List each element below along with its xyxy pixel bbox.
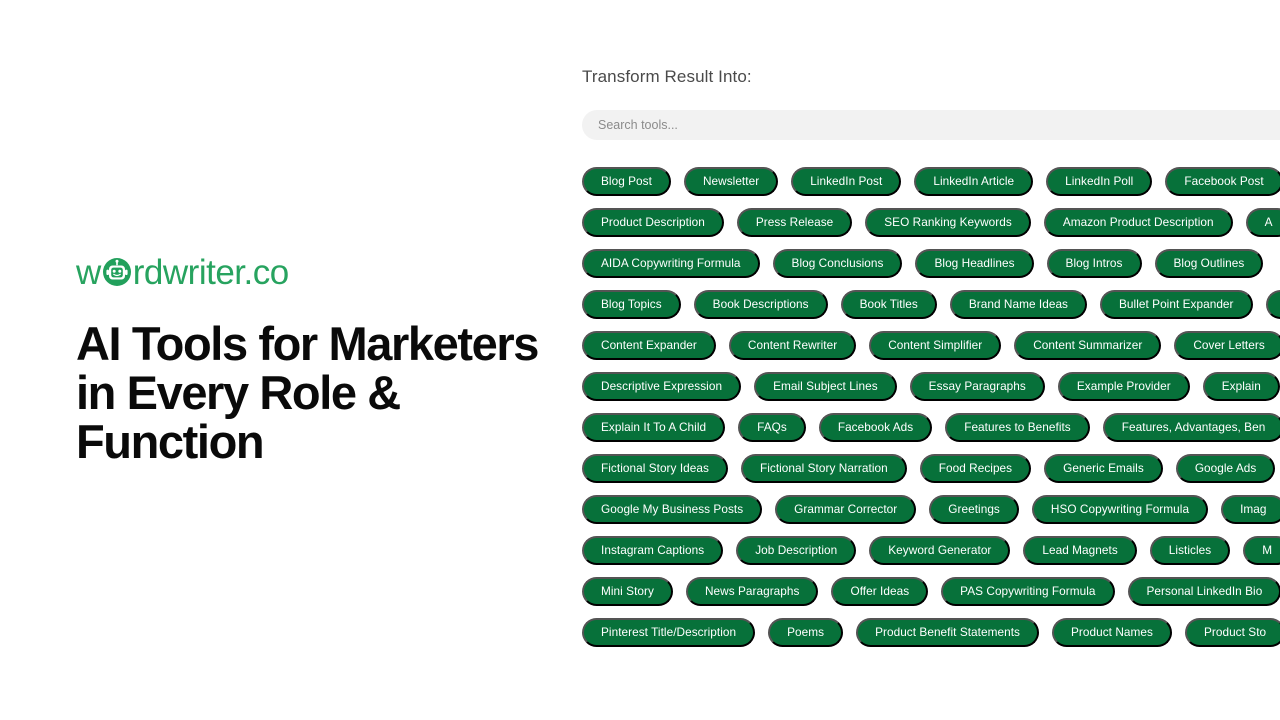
tool-tag[interactable]: Generic Emails [1044,454,1163,483]
tool-tag[interactable]: Features, Advantages, Ben [1103,413,1280,442]
tool-tag[interactable]: Content Expander [582,331,716,360]
tool-tag[interactable]: AIDA Copywriting Formula [582,249,760,278]
tool-tag[interactable]: Facebook Ads [819,413,932,442]
tool-tag[interactable]: Google Ads [1176,454,1276,483]
tool-tag[interactable]: Blog Post [582,167,671,196]
tool-tag[interactable]: Keyword Generator [869,536,1010,565]
tool-tag-row: Descriptive ExpressionEmail Subject Line… [582,372,1280,401]
tool-tag[interactable]: LinkedIn Poll [1046,167,1152,196]
tool-tag[interactable]: Lead Magnets [1023,536,1136,565]
tool-tag[interactable]: Instagram Captions [582,536,723,565]
tool-tag[interactable]: Mini Story [582,577,673,606]
tool-tag[interactable]: Listicles [1150,536,1230,565]
tool-tag[interactable]: PAS Copywriting Formula [941,577,1114,606]
tool-tag-row: Explain It To A ChildFAQsFacebook AdsFea… [582,413,1280,442]
tool-tag[interactable]: Product Benefit Statements [856,618,1039,647]
tool-tag-row: Instagram CaptionsJob DescriptionKeyword… [582,536,1280,565]
tool-tag[interactable]: Poems [768,618,843,647]
tool-tag[interactable]: Email Subject Lines [754,372,897,401]
tool-tag[interactable]: Google My Business Posts [582,495,762,524]
site-logo[interactable]: w rdwriter.co [76,250,546,294]
tool-tag-row: Fictional Story IdeasFictional Story Nar… [582,454,1280,483]
tool-tag[interactable]: Essay Paragraphs [910,372,1045,401]
transform-panel: Transform Result Into: Blog PostNewslett… [560,0,1280,720]
tool-tag-list: Blog PostNewsletterLinkedIn PostLinkedIn… [582,167,1280,647]
tool-tag[interactable]: Facebook Post [1165,167,1280,196]
tool-tag[interactable]: Content Simplifier [869,331,1001,360]
tool-tag[interactable]: Amazon Product Description [1044,208,1233,237]
tool-tag[interactable]: Content Summarizer [1014,331,1161,360]
tool-tag[interactable]: Pinterest Title/Description [582,618,755,647]
tool-tag[interactable]: LinkedIn Post [791,167,901,196]
tool-tag[interactable]: Fictional Story Narration [741,454,907,483]
tool-tag[interactable]: Blog Topics [582,290,681,319]
page-root: w rdwriter.co [0,0,1280,720]
tool-tag[interactable]: M [1243,536,1280,565]
tool-tag[interactable]: Fictional Story Ideas [582,454,728,483]
tool-tag[interactable]: Explain [1203,372,1280,401]
tool-tag[interactable]: Features to Benefits [945,413,1090,442]
hero-content: w rdwriter.co [76,250,546,467]
search-tools-container [582,110,1280,140]
tool-tag[interactable]: Greetings [929,495,1019,524]
tool-tag-row: Content ExpanderContent RewriterContent … [582,331,1280,360]
tool-tag-row: Blog TopicsBook DescriptionsBook TitlesB… [582,290,1280,319]
robot-face-icon [102,257,132,287]
tool-tag-row: Blog PostNewsletterLinkedIn PostLinkedIn… [582,167,1280,196]
tool-tag-row: Google My Business PostsGrammar Correcto… [582,495,1280,524]
tool-tag[interactable]: Content Rewriter [729,331,856,360]
tool-tag[interactable]: Product Names [1052,618,1172,647]
tool-tag[interactable]: Product Description [582,208,724,237]
tool-tag[interactable]: Product Sto [1185,618,1280,647]
tool-tag[interactable]: Food Recipes [920,454,1031,483]
tool-tag[interactable]: Grammar Corrector [775,495,916,524]
tool-tag[interactable]: Cover Letters [1174,331,1280,360]
tool-tag[interactable]: Brand Name Ideas [950,290,1087,319]
hero-section: w rdwriter.co [0,0,560,720]
logo-suffix-text: rdwriter.co [133,255,289,290]
tool-tag[interactable]: LinkedIn Article [914,167,1033,196]
tool-tag[interactable]: Newsletter [684,167,778,196]
tool-tag-row: AIDA Copywriting FormulaBlog Conclusions… [582,249,1280,278]
tool-tag-row: Product DescriptionPress ReleaseSEO Rank… [582,208,1280,237]
tool-tag[interactable]: Blog Outlines [1155,249,1264,278]
tool-tag[interactable]: Example Provider [1058,372,1190,401]
tool-tag[interactable]: Book Titles [841,290,937,319]
tool-tag[interactable]: Descriptive Expression [582,372,741,401]
tool-tag[interactable]: Blog Headlines [915,249,1033,278]
tool-tag[interactable]: Offer Ideas [831,577,928,606]
transform-result-label: Transform Result Into: [582,68,1280,85]
tool-tag[interactable]: Bullet Point Expander [1100,290,1253,319]
tool-tag[interactable]: Imag [1221,495,1280,524]
tool-tag[interactable]: Explain It To A Child [582,413,725,442]
tool-tag-row: Pinterest Title/DescriptionPoemsProduct … [582,618,1280,647]
tool-tag-row: Mini StoryNews ParagraphsOffer IdeasPAS … [582,577,1280,606]
tool-tag[interactable]: Personal LinkedIn Bio [1128,577,1280,606]
tool-tag[interactable]: HSO Copywriting Formula [1032,495,1208,524]
tool-tag[interactable]: FAQs [738,413,806,442]
tool-tag[interactable]: Job Description [736,536,856,565]
logo-prefix-text: w [76,255,101,290]
tool-tag[interactable]: News Paragraphs [686,577,819,606]
search-tools-input[interactable] [582,110,1280,140]
tool-tag[interactable]: A [1246,208,1280,237]
tool-tag[interactable]: C [1266,290,1280,319]
tool-tag[interactable]: Blog Intros [1047,249,1142,278]
page-title: AI Tools for Marketers in Every Role & F… [76,320,546,467]
tool-tag[interactable]: Press Release [737,208,852,237]
tool-tag[interactable]: SEO Ranking Keywords [865,208,1031,237]
tool-tag[interactable]: Blog Conclusions [773,249,903,278]
tool-tag[interactable]: Book Descriptions [694,290,828,319]
